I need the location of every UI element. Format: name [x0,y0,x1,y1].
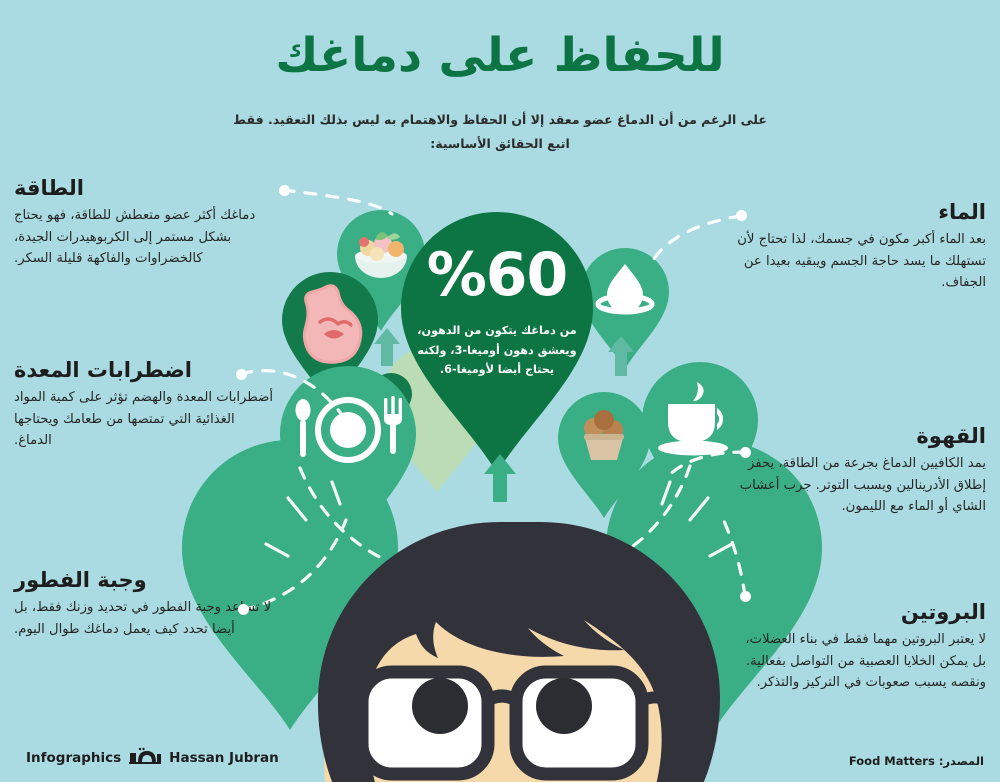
section-protein-body: لا يعتبر البروتين مهما فقط في بناء العضل… [728,629,986,693]
section-breakfast-body: لا تساعد وجبة الفطور في تحديد وزنك فقط، … [14,597,276,640]
center-stat-group: %60 من دماغك يتكون من الدهون، ويعشق دهون… [401,245,593,380]
section-protein-heading: البروتين [728,600,986,625]
section-energy-heading: الطاقة [14,176,276,201]
footer-infographics-label: Infographics [26,750,121,766]
infographic-canvas: للحفاظ على دماغك على الرغم من أن الدماغ … [0,0,1000,782]
eye-right [536,678,592,734]
page-subtitle: على الرغم من أن الدماغ عضو معقد إلا أن ا… [200,108,800,157]
section-water-body: بعد الماء أكبر مكون في جسمك، لذا تحتاج ل… [728,229,986,293]
connector-dot-stomach [236,369,247,380]
section-coffee-body: يمد الكافيين الدماغ بجرعة من الطاقة، يحف… [728,453,986,517]
footer-source: المصدر: Food Matters [849,754,984,768]
connector-dot-energy [279,185,290,196]
subtitle-line-1: على الرغم من أن الدماغ عضو معقد إلا أن ا… [200,108,800,132]
center-caption-line-3: يحتاج أيضا لأوميغا-6. [401,360,593,380]
section-protein: البروتين لا يعتبر البروتين مهما فقط في ب… [728,600,986,693]
section-breakfast-heading: وجبة الفطور [14,568,276,593]
arrow-center [484,454,516,502]
footer-credit: Infographics Hassan Jubran [26,746,279,770]
section-energy-body: دماغك أكثر عضو متعطش للطاقة، فهو يحتاج ب… [14,205,276,269]
section-water-heading: الماء [728,200,986,225]
section-coffee: القهوة يمد الكافيين الدماغ بجرعة من الطا… [728,424,986,517]
connector-dot-coffee [740,447,751,458]
connector-dot-breakfast [238,604,249,615]
section-water: الماء بعد الماء أكبر مكون في جسمك، لذا ت… [728,200,986,293]
section-energy: الطاقة دماغك أكثر عضو متعطش للطاقة، فهو … [14,176,276,269]
section-coffee-heading: القهوة [728,424,986,449]
section-stomach-body: أضطرابات المعدة والهضم تؤثر على كمية الم… [14,387,276,451]
footer-author: Hassan Jubran [169,750,279,766]
section-breakfast: وجبة الفطور لا تساعد وجبة الفطور في تحدي… [14,568,276,640]
arrow-left [374,328,400,366]
page-title: للحفاظ على دماغك [0,28,1000,83]
subtitle-line-2: اتبع الحقائق الأساسية: [200,132,800,156]
center-stat-value: %60 [401,245,593,305]
center-caption-line-2: ويعشق دهون أوميغا-3، ولكنه [401,341,593,361]
connector-dot-water [736,210,747,221]
center-caption-line-1: من دماغك يتكون من الدهون، [401,321,593,341]
eye-left [412,678,468,734]
connector-dot-protein [740,591,751,602]
center-stat-caption: من دماغك يتكون من الدهون، ويعشق دهون أوم… [401,321,593,380]
makkah-logo-icon [128,746,162,770]
